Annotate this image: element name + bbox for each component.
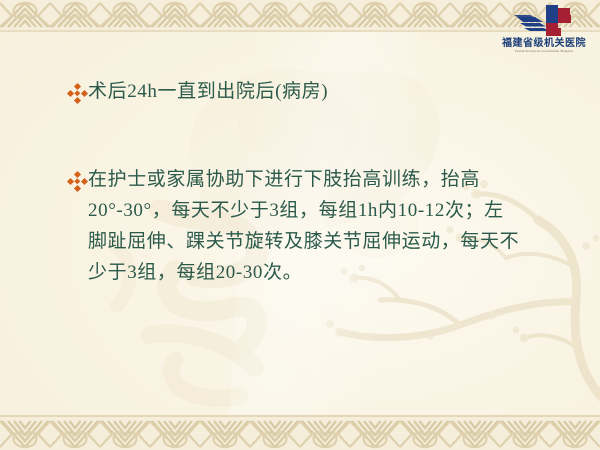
hospital-cross-logo-icon (513, 4, 575, 37)
bullet-item: 术后24h一直到出院后(病房) (0, 60, 600, 107)
hospital-name-cn: 福建省级机关医院 (496, 38, 592, 49)
bullet-text: 在护士或家属协助下进行下肢抬高训练，抬高20°-30°，每天不少于3组，每组1h… (88, 164, 520, 288)
bullet-text: 术后24h一直到出院后(病房) (88, 76, 328, 107)
diamond-cluster-bullet-icon (66, 164, 88, 192)
presentation-slide: 福建省级机关医院 Fujian Provincial Government Ho… (0, 0, 600, 450)
hospital-name-en: Fujian Provincial Government Hospital (498, 49, 589, 54)
bottom-ornament-band (0, 417, 600, 450)
bullet-item: 在护士或家属协助下进行下肢抬高训练，抬高20°-30°，每天不少于3组，每组1h… (0, 107, 600, 288)
slide-content-body: 术后24h一直到出院后(病房) 在护士或家属协助下进行下肢抬高训练，抬高20°-… (0, 60, 600, 288)
diamond-cluster-bullet-icon (66, 76, 88, 104)
hospital-logo-block: 福建省级机关医院 Fujian Provincial Government Ho… (496, 4, 592, 60)
